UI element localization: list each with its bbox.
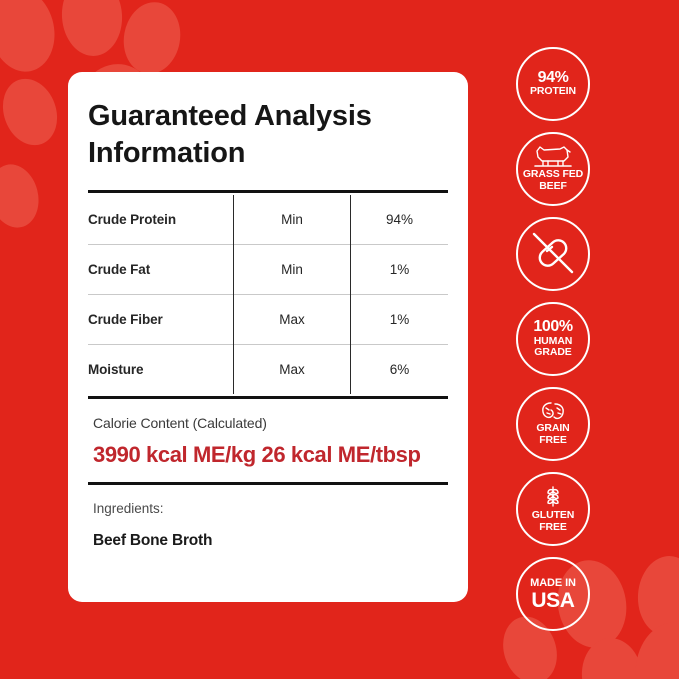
table-row: Crude Protein Min 94% xyxy=(88,195,448,245)
badge-human-grade-percent: 100% xyxy=(533,319,572,335)
nutrient-name: Moisture xyxy=(88,345,234,395)
table-row: Crude Fiber Max 1% xyxy=(88,295,448,345)
guaranteed-analysis-card: Guaranteed Analysis Information Crude Pr… xyxy=(68,72,468,602)
nutrient-qualifier: Max xyxy=(234,345,351,395)
badge-beef-label: BEEF xyxy=(539,181,567,193)
badge-protein-percent: 94% xyxy=(538,70,569,86)
analysis-table-wrapper: Crude Protein Min 94% Crude Fat Min 1% C… xyxy=(88,193,448,396)
nutrient-value: 1% xyxy=(351,295,449,345)
badge-usa-label: USA xyxy=(531,590,574,611)
badge-no-pill xyxy=(516,217,590,291)
grain-icon xyxy=(540,401,566,421)
badge-human-grade: 100% HUMAN GRADE xyxy=(516,302,590,376)
badge-grade-label: GRADE xyxy=(534,347,571,359)
ingredients-label: Ingredients: xyxy=(93,501,448,516)
badge-protein: 94% PROTEIN xyxy=(516,47,590,121)
calorie-content-section: Calorie Content (Calculated) 3990 kcal M… xyxy=(88,399,448,482)
nutrient-value: 94% xyxy=(351,195,449,245)
nutrient-name: Crude Fiber xyxy=(88,295,234,345)
badge-protein-label: PROTEIN xyxy=(530,86,576,98)
ingredients-section: Ingredients: Beef Bone Broth xyxy=(88,485,448,550)
guaranteed-analysis-table: Crude Protein Min 94% Crude Fat Min 1% C… xyxy=(88,195,448,394)
badge-grain-free: GRAIN FREE xyxy=(516,387,590,461)
analysis-table-body: Crude Protein Min 94% Crude Fat Min 1% C… xyxy=(88,195,448,394)
table-row: Moisture Max 6% xyxy=(88,345,448,395)
badge-gluten-free-label: FREE xyxy=(539,522,567,534)
badge-made-in-usa: MADE IN USA xyxy=(516,557,590,631)
ingredients-value: Beef Bone Broth xyxy=(93,532,448,550)
calorie-value: 3990 kcal ME/kg 26 kcal ME/tbsp xyxy=(93,442,448,468)
nutrient-value: 1% xyxy=(351,245,449,295)
badge-grain-free-label: FREE xyxy=(539,435,567,447)
badge-gluten-free: GLUTEN FREE xyxy=(516,472,590,546)
no-pill-icon xyxy=(527,227,579,279)
badge-made-in-label: MADE IN xyxy=(530,577,576,589)
table-row: Crude Fat Min 1% xyxy=(88,245,448,295)
calorie-label: Calorie Content (Calculated) xyxy=(93,415,448,431)
nutrient-qualifier: Min xyxy=(234,245,351,295)
nutrient-name: Crude Fat xyxy=(88,245,234,295)
page-title: Guaranteed Analysis Information xyxy=(88,72,448,172)
nutrient-name: Crude Protein xyxy=(88,195,234,245)
nutrient-qualifier: Max xyxy=(234,295,351,345)
badge-grass-fed-beef: GRASS FED BEEF xyxy=(516,132,590,206)
cow-icon xyxy=(534,145,572,167)
nutrient-qualifier: Min xyxy=(234,195,351,245)
feature-badge-column: 94% PROTEIN GRASS FED BEEF xyxy=(516,47,592,642)
wheat-icon xyxy=(541,484,565,508)
nutrient-value: 6% xyxy=(351,345,449,395)
